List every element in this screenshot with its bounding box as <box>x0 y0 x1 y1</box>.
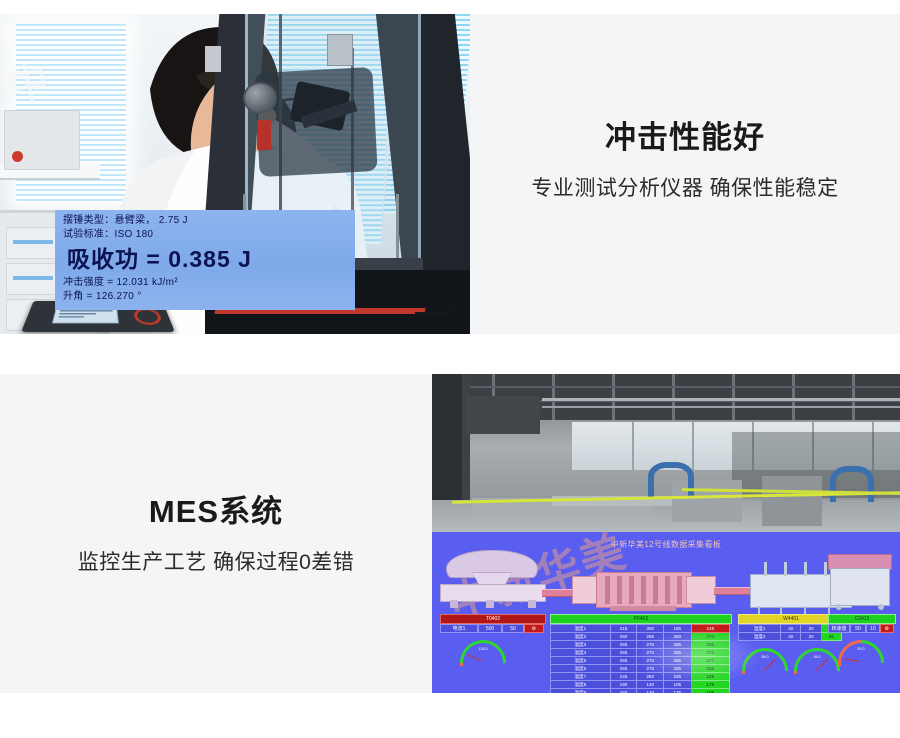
feeder-ctrl-lo: 50 <box>502 624 524 633</box>
row-label: 温度5 <box>551 657 611 665</box>
cooling-table: 温度1402055温度2402036 <box>738 624 842 641</box>
winder-body-icon <box>830 568 890 606</box>
gauge-feeder-current: 125.3 <box>460 640 506 666</box>
row-label: 温度7 <box>551 673 611 681</box>
section2-subtitle: 监控生产工艺 确保过程0差错 <box>0 546 432 576</box>
feeder-ctrl-hi: 500 <box>478 624 502 633</box>
winder-gear-icon[interactable]: ⚙ <box>880 624 894 633</box>
row-cell: 140 <box>637 689 664 694</box>
winder-ctrl-label: 转速值 <box>828 624 850 633</box>
row-cell: 215 <box>610 625 637 633</box>
section1-text-block: 冲击性能好 专业测试分析仪器 确保性能稳定 <box>470 14 900 334</box>
row-cell: 20 <box>801 625 821 633</box>
row-value: 158 <box>691 689 730 694</box>
test-result-readout: 摆锤类型：悬臂梁， 2.75 J 试验标准：ISO 180 吸收功 = 0.38… <box>55 210 355 310</box>
section2-title: MES系统 <box>0 486 432 531</box>
section2-text-block: MES系统 监控生产工艺 确保过程0差错 <box>0 374 432 693</box>
mes-dashboard: 中新华美 中新华美12号线数据采集看板 <box>432 532 900 693</box>
table-row: 温度9155140125158 <box>551 689 730 694</box>
tester-hinge <box>205 46 221 72</box>
station-winder-controls[interactable]: 转速值 50 10 ⚙ <box>828 624 894 633</box>
row-label: 温度6 <box>551 665 611 673</box>
lab-scene: 摆锤类型：悬臂梁， 2.75 J 试验标准：ISO 180 吸收功 = 0.38… <box>0 14 470 334</box>
row-label: 温度8 <box>551 681 611 689</box>
station-extruder-header: P6402 <box>550 614 732 624</box>
table-row: 温度2402036 <box>739 633 842 641</box>
row-cell: 125 <box>664 689 691 694</box>
dashboard-glare <box>632 627 762 685</box>
row-label: 温度9 <box>551 689 611 694</box>
section-impact-performance: 摆锤类型：悬臂梁， 2.75 J 试验标准：ISO 180 吸收功 = 0.38… <box>0 14 900 334</box>
section-mes-system: MES系统 监控生产工艺 确保过程0差错 <box>0 374 900 693</box>
row-label: 温度1 <box>551 625 611 633</box>
section1-subtitle: 专业测试分析仪器 确保性能稳定 <box>470 172 900 202</box>
extruder-outlet-icon <box>686 576 716 604</box>
row-label: 温度4 <box>551 649 611 657</box>
row-label: 温度2 <box>551 633 611 641</box>
readout-absorbed-energy: 吸收功 = 0.385 J <box>67 242 347 276</box>
winder-ctrl-lo: 10 <box>866 624 880 633</box>
factory-production-line-photo <box>432 374 900 532</box>
station-feeder-header: T0402 <box>440 614 546 624</box>
feeder-ctrl-label: 电流1 <box>440 624 478 633</box>
row-cell: 190 <box>610 681 637 689</box>
page-root: 摆锤类型：悬臂梁， 2.75 J 试验标准：ISO 180 吸收功 = 0.38… <box>0 0 900 738</box>
readout-rise-angle: 升角 = 126.270 ° <box>63 290 347 304</box>
row-cell: 265 <box>610 641 637 649</box>
row-cell: 260 <box>610 633 637 641</box>
tester-hinge <box>327 34 353 66</box>
tester-knob[interactable] <box>243 82 277 114</box>
section2-media-block: 中新华美 中新华美12号线数据采集看板 <box>432 374 900 693</box>
row-cell: 265 <box>610 665 637 673</box>
row-label: 温度1 <box>739 625 781 633</box>
row-cell: 20 <box>801 633 821 641</box>
row-label: 温度3 <box>551 641 611 649</box>
winder-ctrl-hi: 50 <box>850 624 866 633</box>
readout-impact-strength: 冲击强度 = 12.031 kJ/m² <box>63 276 347 290</box>
gauge-cooling-2: 36.0 <box>794 648 840 674</box>
row-cell: 40 <box>781 625 801 633</box>
feeder-gear-icon[interactable]: ⚙ <box>524 624 544 633</box>
impact-testing-machine-photo: 摆锤类型：悬臂梁， 2.75 J 试验标准：ISO 180 吸收功 = 0.38… <box>0 14 470 334</box>
gauge-feeder-value: 125.3 <box>469 647 497 652</box>
emergency-stop-button[interactable] <box>257 120 271 150</box>
row-cell: 155 <box>610 689 637 694</box>
section1-title: 冲击性能好 <box>470 112 900 157</box>
extruder-barrel-icon <box>596 572 692 608</box>
table-row: 温度1402055 <box>739 625 842 633</box>
readout-standard: 试验标准：ISO 180 <box>63 228 347 242</box>
gauge-winder-value: 50.0 <box>847 647 875 652</box>
row-cell: 140 <box>637 681 664 689</box>
dashboard-title: 中新华美12号线数据采集看板 <box>432 539 900 550</box>
factory-mezzanine <box>466 396 540 434</box>
row-cell: 245 <box>610 673 637 681</box>
panel-start-button[interactable] <box>133 308 164 324</box>
row-cell: 40 <box>781 633 801 641</box>
station-winder-header: C0412 <box>828 614 896 624</box>
readout-hammer-type: 摆锤类型：悬臂梁， 2.75 J <box>63 214 347 228</box>
station-feeder-controls[interactable]: 电流1 500 50 ⚙ <box>440 624 544 633</box>
gauge-winder-speed: 50.0 <box>838 640 884 666</box>
